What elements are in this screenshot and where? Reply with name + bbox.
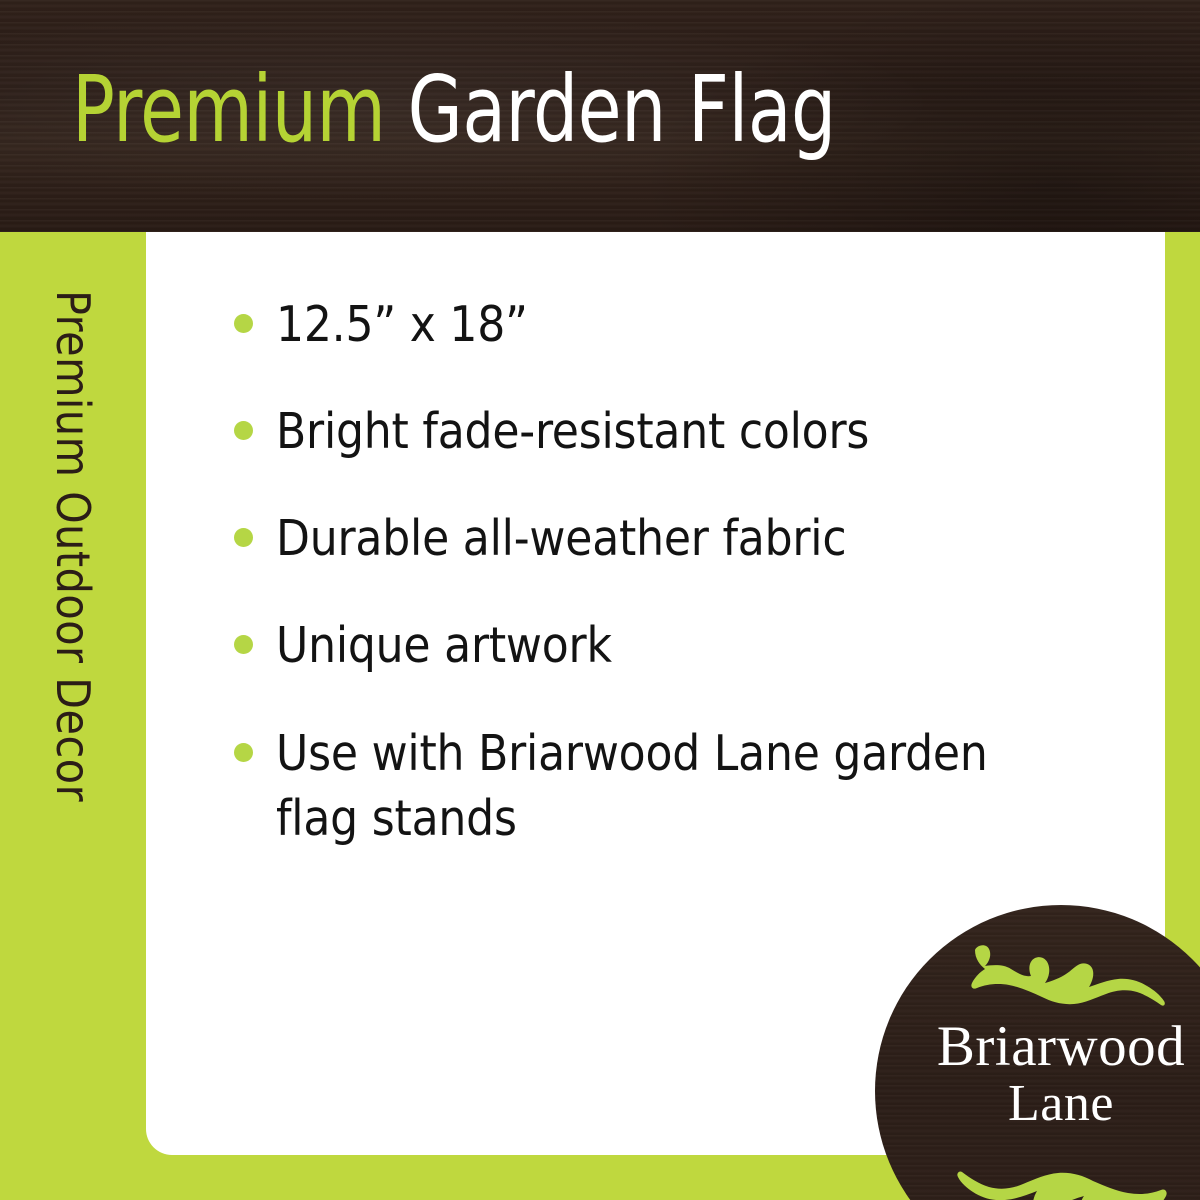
feature-list: 12.5” x 18” Bright fade-resistant colors… [226,292,1026,851]
list-item: Use with Briarwood Lane garden flag stan… [226,721,1026,851]
list-item-label: Durable all-weather fabric [276,510,846,567]
list-item: Unique artwork [226,613,1026,678]
leaf-top-icon [967,943,1167,1007]
page-title-accent: Premium [72,56,385,163]
page-title: Premium Garden Flag [72,64,836,156]
brand-logo-inner: Briarwood Lane [875,905,1200,1200]
list-item: Bright fade-resistant colors [226,399,1026,464]
bullet-icon [234,528,253,547]
brand-name-line2: Lane [875,1076,1200,1131]
bullet-icon [234,743,253,762]
header-banner: Premium Garden Flag [0,0,1200,232]
leaf-bottom-icon [957,1169,1167,1200]
page-title-main: Garden Flag [385,56,835,163]
list-item-label: Use with Briarwood Lane garden flag stan… [276,725,988,847]
list-item-label: 12.5” x 18” [276,296,528,353]
brand-logo-badge: Briarwood Lane [875,905,1200,1200]
sidebar-vertical-label: Premium Outdoor Decor [46,290,100,802]
bullet-icon [234,314,253,333]
brand-wordmark: Briarwood Lane [875,1017,1200,1131]
bullet-icon [234,421,253,440]
brand-name-line1: Briarwood [875,1017,1200,1076]
sidebar: Premium Outdoor Decor [0,232,146,1200]
bullet-icon [234,635,253,654]
list-item-label: Unique artwork [276,617,612,674]
product-feature-card: Premium Garden Flag Premium Outdoor Deco… [0,0,1200,1200]
list-item: 12.5” x 18” [226,292,1026,357]
list-item: Durable all-weather fabric [226,506,1026,571]
list-item-label: Bright fade-resistant colors [276,403,869,460]
